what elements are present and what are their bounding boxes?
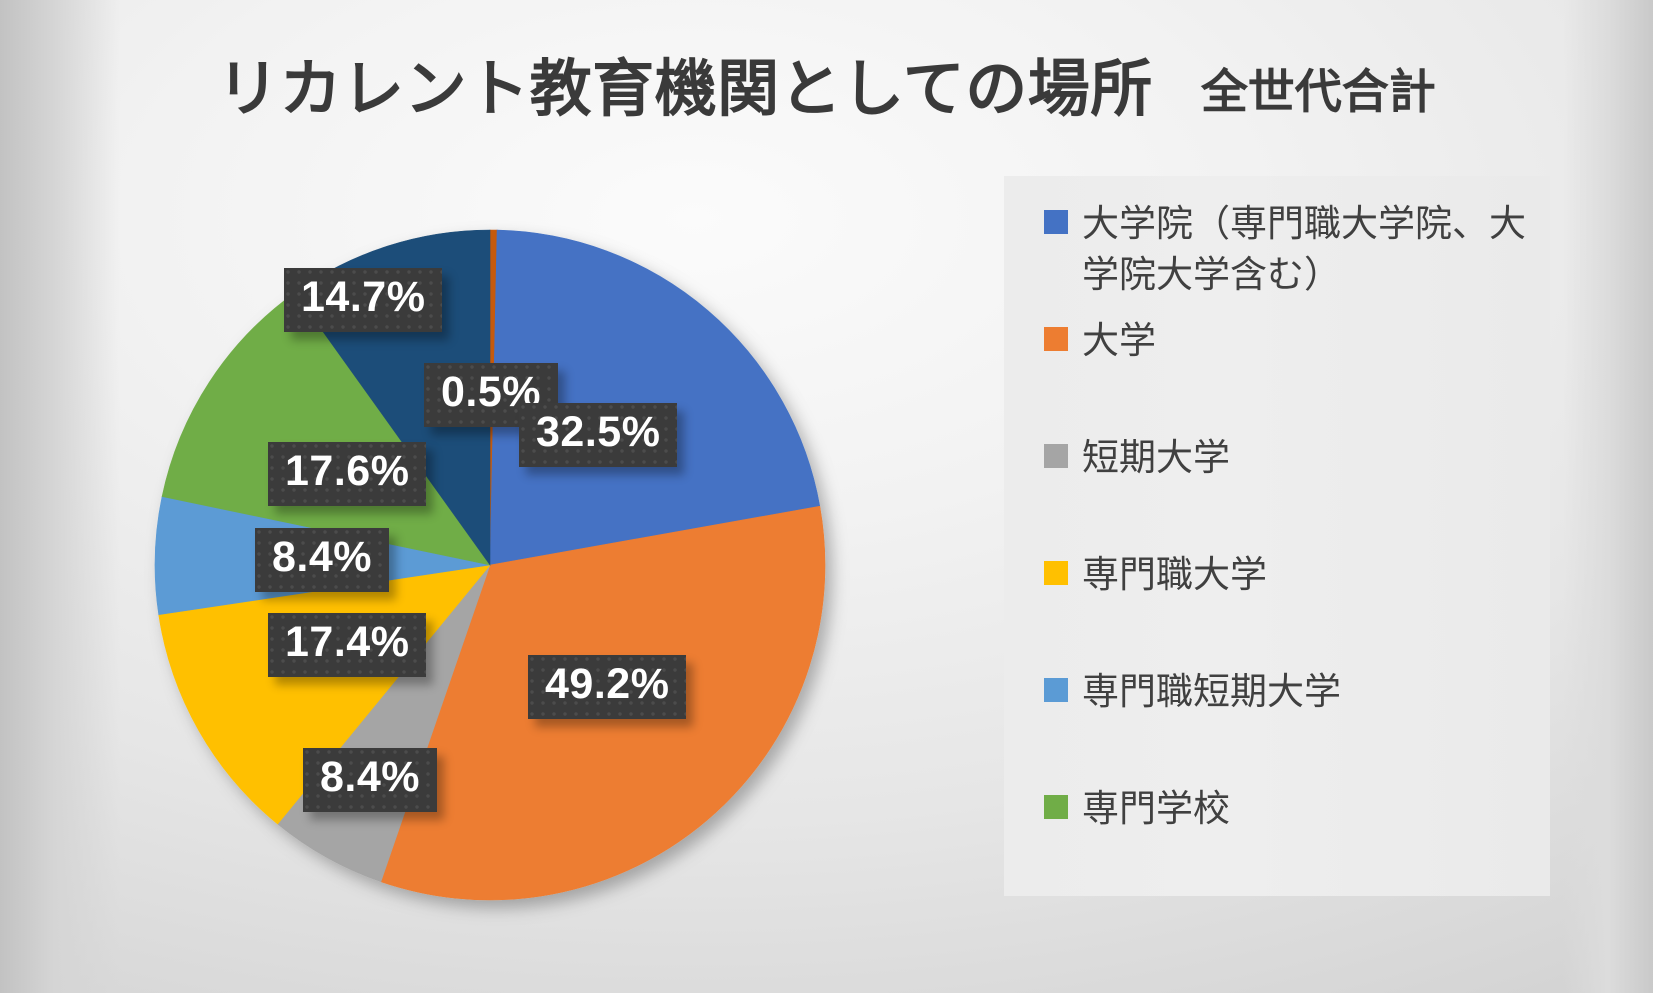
pie-chart (0, 0, 1000, 993)
chart-legend: 大学院（専門職大学院、大学院大学含む） 大学 短期大学 専門職大学 専門職短期大… (1004, 176, 1550, 896)
legend-swatch-junior-college (1044, 444, 1068, 468)
data-label-32-5: 32.5% (519, 403, 677, 467)
legend-swatch-university (1044, 327, 1068, 351)
data-label-14-7: 14.7% (284, 268, 442, 332)
legend-swatch-professional-junior-college (1044, 678, 1068, 702)
data-label-8-4-left: 8.4% (255, 528, 389, 592)
legend-item-professional-junior-college[interactable]: 専門職短期大学 (1044, 666, 1534, 717)
slide-canvas: リカレント教育機関としての場所全世代合計 0.5% 32.5% 49.2% 8.… (0, 0, 1653, 993)
page-subtitle: 全世代合計 (1201, 53, 1436, 122)
legend-swatch-professional-university (1044, 561, 1068, 585)
legend-swatch-graduate-school (1044, 210, 1068, 234)
legend-item-graduate-school[interactable]: 大学院（専門職大学院、大学院大学含む） (1044, 198, 1534, 300)
data-label-8-4-bottom: 8.4% (303, 748, 437, 812)
legend-item-university[interactable]: 大学 (1044, 315, 1534, 366)
page-title: リカレント教育機関としての場所 (217, 38, 1153, 128)
chart-title-block: リカレント教育機関としての場所全世代合計 (0, 38, 1653, 128)
legend-label-professional-junior-college: 専門職短期大学 (1082, 666, 1341, 717)
legend-swatch-vocational-school (1044, 795, 1068, 819)
legend-item-professional-university[interactable]: 専門職大学 (1044, 549, 1534, 600)
legend-label-university: 大学 (1082, 315, 1156, 366)
legend-item-junior-college[interactable]: 短期大学 (1044, 432, 1534, 483)
legend-label-graduate-school: 大学院（専門職大学院、大学院大学含む） (1082, 198, 1534, 300)
legend-label-vocational-school: 専門学校 (1082, 783, 1230, 834)
pie-chart-svg (0, 0, 1000, 993)
data-label-17-4: 17.4% (268, 613, 426, 677)
legend-label-junior-college: 短期大学 (1082, 432, 1230, 483)
data-label-49-2: 49.2% (528, 655, 686, 719)
legend-item-vocational-school[interactable]: 専門学校 (1044, 783, 1534, 834)
legend-label-professional-university: 専門職大学 (1082, 549, 1267, 600)
data-label-17-6: 17.6% (268, 442, 426, 506)
